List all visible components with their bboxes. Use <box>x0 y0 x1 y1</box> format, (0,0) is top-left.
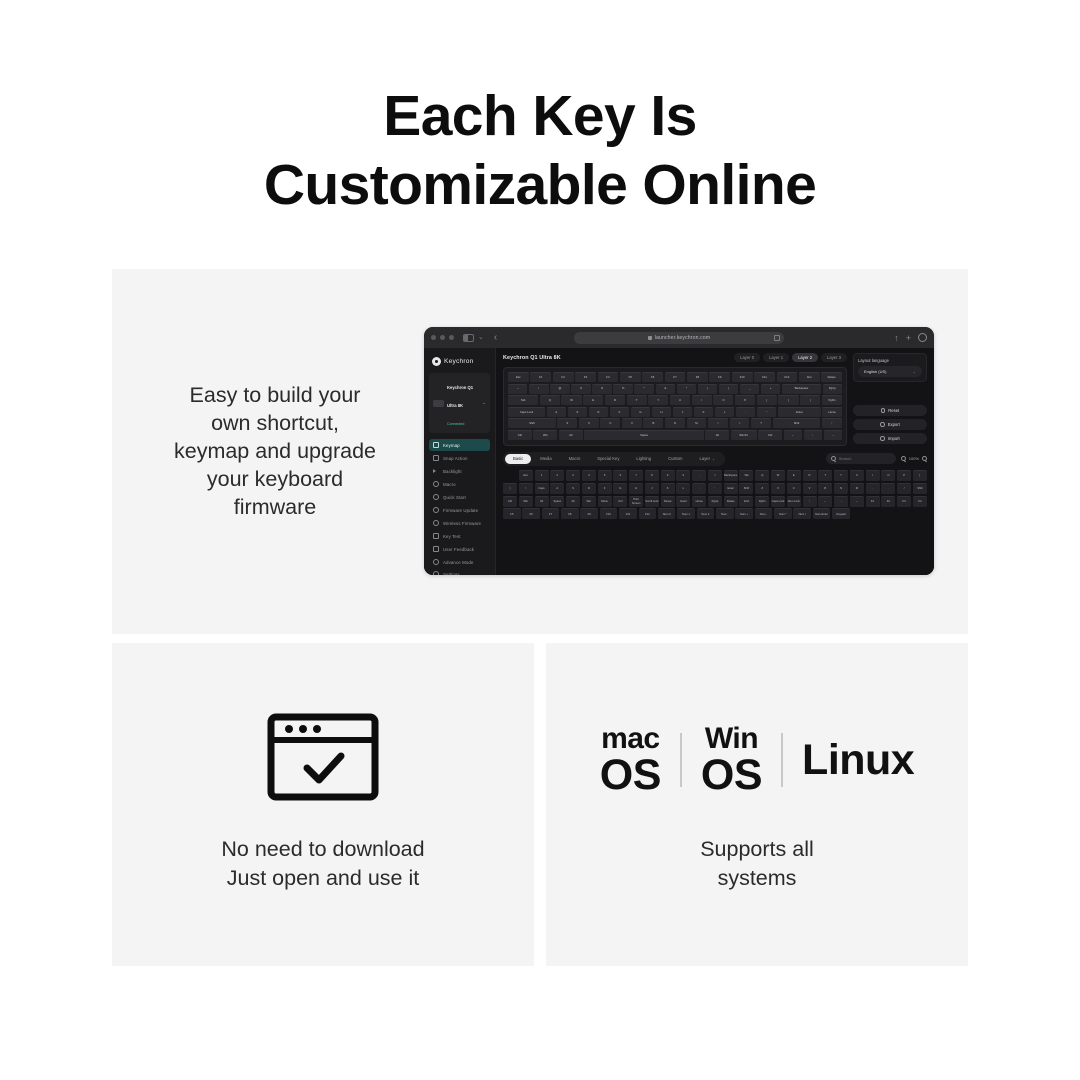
key-palette-key[interactable]: ↓ <box>834 496 848 507</box>
keymap-caption-line-4: your keyboard <box>140 465 410 493</box>
keyboard-key[interactable]: F2 <box>553 372 574 382</box>
sidebar-item-backlight[interactable]: Backlight <box>429 465 490 477</box>
keyboard-key[interactable]: F6 <box>642 372 663 382</box>
key-palette-key[interactable]: I <box>866 470 880 481</box>
app-sidebar: Keychron Keychron Q1 Ultra 8K Connected … <box>424 348 496 575</box>
keyboard-key[interactable]: C <box>600 418 620 428</box>
tab-layer-label: Layer <box>700 456 710 461</box>
keyboard-key[interactable]: ↓ <box>804 430 822 440</box>
key-palette-key[interactable]: Shift <box>739 483 753 494</box>
key-palette-key[interactable]: ' <box>708 483 722 494</box>
key-palette-key[interactable]: 7 <box>629 470 643 481</box>
key-palette-key[interactable]: Shift <box>913 483 927 494</box>
sidebar-item-settings[interactable]: Settings <box>429 568 490 575</box>
key-palette-key[interactable]: / <box>897 483 911 494</box>
keyboard-key[interactable]: + <box>761 384 780 394</box>
keyboard-key[interactable]: Del <box>799 372 820 382</box>
key-palette-key[interactable]: PgUp <box>708 496 722 507</box>
key-palette-key[interactable]: ← <box>818 496 832 507</box>
keyboard-key[interactable]: & <box>656 384 675 394</box>
key-palette-key[interactable]: Scroll Lock <box>645 496 659 507</box>
zoom-controls: 100% <box>901 456 927 461</box>
close-dot-icon[interactable] <box>431 335 436 340</box>
reload-icon[interactable] <box>774 335 780 341</box>
reset-button-label: Reset <box>888 408 899 413</box>
page-title-line-1: Each Key Is <box>383 84 696 148</box>
keyboard-key[interactable]: % <box>613 384 632 394</box>
keyboard-key[interactable]: B <box>643 418 663 428</box>
keyboard-key[interactable]: F11 <box>754 372 775 382</box>
key-palette-key[interactable]: R <box>803 470 817 481</box>
key-palette-key[interactable]: Keypad <box>832 508 850 519</box>
key-palette-key[interactable]: W <box>771 470 785 481</box>
keyboard-key[interactable]: F3 <box>575 372 596 382</box>
sidebar-nav: Keymap Snap Action Backlight Macro <box>429 439 490 568</box>
keyboard-key[interactable]: : <box>736 407 755 417</box>
key-palette-spacer <box>871 508 889 519</box>
key-palette-key[interactable]: Caps <box>535 483 549 494</box>
os-support-caption-line-1: Supports all <box>546 835 968 864</box>
feature-card-os-support <box>546 643 968 966</box>
device-selector[interactable]: Keychron Q1 Ultra 8K Connected ⌄ <box>429 373 490 433</box>
key-palette-key[interactable]: 9 <box>661 470 675 481</box>
key-palette-row: CtrlWinAltSpaceAltWinMenuCtrlPrint Scree… <box>503 496 927 507</box>
keyboard-key[interactable]: Enter <box>778 407 821 417</box>
key-palette-key[interactable]: Alt <box>566 496 580 507</box>
address-bar[interactable]: launcher.keychron.com <box>574 332 784 344</box>
keyboard-key[interactable]: | <box>800 395 820 405</box>
tab-special-key[interactable]: Special Key <box>589 454 627 464</box>
key-palette-key[interactable]: N <box>834 483 848 494</box>
keyboard-key[interactable]: A <box>547 407 566 417</box>
keyboard-key[interactable]: ) <box>719 384 738 394</box>
brand-name: Keychron <box>444 358 473 365</box>
key-palette-key[interactable]: O <box>881 470 895 481</box>
key-palette-key[interactable]: Home <box>692 496 706 507</box>
key-palette-key[interactable]: ; <box>692 483 706 494</box>
layout-language-panel: Layout language English (US) ⌄ <box>853 353 927 382</box>
keyboard-key[interactable]: Y <box>648 395 668 405</box>
keyboard-row: ~!@#$%^&*()_+BackspacePgUp <box>508 384 842 394</box>
key-palette-key[interactable]: F7 <box>542 508 560 519</box>
keyboard-key[interactable]: F10 <box>732 372 753 382</box>
keyboard-row: ShiftZXCVBNM<>?Shift↑ <box>508 418 842 428</box>
key-palette-key[interactable]: F9 <box>580 508 598 519</box>
keyboard-key[interactable]: @ <box>550 384 569 394</box>
key-palette-key[interactable]: . <box>881 483 895 494</box>
os-support-caption: Supports all systems <box>546 835 968 893</box>
keyboard-key[interactable]: Q <box>540 395 560 405</box>
zoom-out-icon[interactable] <box>901 456 906 461</box>
keyboard-key[interactable]: * <box>677 384 696 394</box>
keyboard-key[interactable]: # <box>571 384 590 394</box>
key-palette-key[interactable]: Enter <box>724 483 738 494</box>
keymap-side-panel: Layout language English (US) ⌄ Reset <box>853 353 927 446</box>
layer-tab-2[interactable]: Layer 2 <box>792 353 818 362</box>
key-palette-key[interactable]: 2 <box>550 470 564 481</box>
key-palette-key[interactable]: Num * <box>774 508 792 519</box>
keyboard-key[interactable]: Home <box>822 407 841 417</box>
keymap-actions: Reset Export Import <box>853 405 927 446</box>
chevron-down-icon[interactable]: ⌄ <box>482 401 486 406</box>
chevron-down-icon: ⌄ <box>913 369 916 374</box>
keyboard-key[interactable]: _ <box>740 384 759 394</box>
reset-button[interactable]: Reset <box>853 405 927 416</box>
keyboard-key[interactable]: S <box>568 407 587 417</box>
key-palette-row: Esc1234567890-=BackspaceTabQWERTYUIOP[ <box>503 470 927 481</box>
key-palette-key[interactable]: \ <box>519 483 533 494</box>
export-button[interactable]: Export <box>853 419 927 430</box>
snap-action-icon <box>433 455 439 461</box>
keyboard-key[interactable]: E <box>583 395 603 405</box>
os-logo-winos: Win OS <box>701 724 762 796</box>
key-palette-spacer <box>851 508 869 519</box>
tab-layer[interactable]: Layer⌄ <box>692 454 723 464</box>
key-palette-key[interactable]: → <box>850 496 864 507</box>
key-palette-key[interactable]: Esc <box>519 470 533 481</box>
keymap-workspace: Keychron Q1 Ultra 8K Layer 0 Layer 1 Lay… <box>496 348 934 446</box>
keyboard-key[interactable]: W <box>561 395 581 405</box>
keymap-caption: Easy to build your own shortcut, keymap … <box>140 381 410 521</box>
key-palette-key[interactable]: 1 <box>535 470 549 481</box>
key-palette-key[interactable]: Ctrl <box>503 496 517 507</box>
key-palette-key[interactable]: A <box>550 483 564 494</box>
tab-basic[interactable]: Basic <box>505 454 531 464</box>
search-input[interactable]: Search <box>826 453 896 464</box>
no-download-caption-line-2: Just open and use it <box>112 864 534 893</box>
key-palette-key[interactable]: Q <box>755 470 769 481</box>
key-palette-key[interactable]: Num / <box>793 508 811 519</box>
keyboard-key[interactable]: Ctrl <box>758 430 782 440</box>
keyboard-key[interactable]: Win <box>533 430 557 440</box>
chevron-down-icon[interactable]: ⌄ <box>478 334 484 341</box>
keyboard-key[interactable]: Shift <box>773 418 821 428</box>
keyboard-key[interactable]: Ctrl <box>508 430 532 440</box>
key-palette-key[interactable]: H <box>629 483 643 494</box>
keyboard-key[interactable]: Alt <box>705 430 729 440</box>
keyboard-key[interactable]: ~ <box>508 384 527 394</box>
key-palette-spacer <box>890 508 908 519</box>
key-palette-key[interactable]: Ctrl <box>613 496 627 507</box>
key-palette-key[interactable]: , <box>866 483 880 494</box>
key-palette-key[interactable]: Menu <box>598 496 612 507</box>
key-palette-key[interactable]: F2 <box>881 496 895 507</box>
keyboard-key[interactable]: J <box>673 407 692 417</box>
lock-icon <box>648 336 652 340</box>
tabs-overview-icon[interactable] <box>918 333 927 342</box>
key-palette-key[interactable]: = <box>708 470 722 481</box>
promo-page: Each Key Is Customizable Online Easy to … <box>0 0 1080 1080</box>
sidebar-item-wireless-firmware[interactable]: Wireless Firmware <box>429 517 490 529</box>
new-tab-icon[interactable]: + <box>906 333 911 343</box>
layer-tab-0[interactable]: Layer 0 <box>734 353 760 362</box>
keyboard-key[interactable]: Z <box>557 418 577 428</box>
keyboard-key[interactable]: K <box>694 407 713 417</box>
key-palette-key[interactable]: Y <box>834 470 848 481</box>
keyboard-key[interactable]: { <box>757 395 777 405</box>
key-palette-key[interactable]: Win <box>582 496 596 507</box>
key-palette-key[interactable]: F10 <box>600 508 618 519</box>
key-palette-key[interactable]: U <box>850 470 864 481</box>
import-button-label: Import <box>888 436 900 441</box>
tab-macro[interactable]: Macro <box>561 454 589 464</box>
key-palette-key[interactable]: F12 <box>639 508 657 519</box>
key-palette-key[interactable]: E <box>787 470 801 481</box>
key-palette-key[interactable]: J <box>645 483 659 494</box>
no-download-caption: No need to download Just open and use it <box>112 835 534 893</box>
key-picker-toolbar: Basic Media Macro Special Key Lighting C… <box>503 452 927 466</box>
os-logo-winos-top: Win <box>705 724 758 753</box>
layer-tab-3[interactable]: Layer 3 <box>821 353 847 362</box>
key-palette-key[interactable]: F11 <box>619 508 637 519</box>
keyboard-key[interactable]: F1 <box>530 372 551 382</box>
keyboard-key[interactable]: Caps Lock <box>508 407 545 417</box>
os-logo-winos-bottom: OS <box>701 754 762 796</box>
sidebar-item-quick-start[interactable]: Quick Start <box>429 491 490 503</box>
sidebar-item-firmware-update[interactable]: Firmware Update <box>429 504 490 516</box>
sidebar-item-label: Keymap <box>443 443 460 448</box>
back-arrow-icon[interactable]: ‹ <box>494 333 497 343</box>
key-palette-row: ]\CapsASDFGHJKL;'EnterShiftZXCVBNM,./Shi… <box>503 483 927 494</box>
firmware-update-icon <box>433 507 439 513</box>
keyboard-key[interactable]: F <box>610 407 629 417</box>
zoom-level-value: 100% <box>909 456 919 461</box>
device-status-badge: Connected <box>447 422 464 426</box>
keyboard-key[interactable]: L <box>715 407 734 417</box>
key-palette-key[interactable]: F5 <box>503 508 521 519</box>
key-palette-key[interactable]: X <box>771 483 785 494</box>
keyboard-key[interactable]: PgUp <box>823 384 842 394</box>
keymap-caption-line-2: own shortcut, <box>140 409 410 437</box>
maximize-dot-icon[interactable] <box>449 335 454 340</box>
key-palette-key[interactable]: 0 <box>676 470 690 481</box>
tab-lighting[interactable]: Lighting <box>628 454 659 464</box>
key-palette-key[interactable]: G <box>613 483 627 494</box>
browser-chrome-bar: ⌄ ‹ launcher.keychron.com ↑ + <box>424 327 934 348</box>
keyboard-key[interactable]: ( <box>698 384 717 394</box>
key-palette-key[interactable]: Num . <box>716 508 734 519</box>
keyboard-key[interactable]: ↑ <box>822 418 842 428</box>
keyboard-key[interactable]: F5 <box>620 372 641 382</box>
keyboard-key[interactable]: T <box>627 395 647 405</box>
keyboard-key[interactable]: P <box>735 395 755 405</box>
key-palette-key[interactable]: Num + <box>735 508 753 519</box>
layer-tab-1[interactable]: Layer 1 <box>763 353 789 362</box>
keyboard-key[interactable]: Delete <box>821 372 842 382</box>
keyboard-key[interactable]: I <box>692 395 712 405</box>
key-palette-key[interactable]: F4 <box>913 496 927 507</box>
gear-icon <box>433 571 439 575</box>
layout-language-select[interactable]: English (US) ⌄ <box>858 366 922 377</box>
zoom-in-icon[interactable] <box>922 456 927 461</box>
keyboard-key[interactable]: ^ <box>634 384 653 394</box>
keyboard-key[interactable]: D <box>589 407 608 417</box>
key-palette-key[interactable]: F1 <box>866 496 880 507</box>
device-thumbnail-icon <box>433 400 444 407</box>
os-support-caption-line-2: systems <box>546 864 968 893</box>
keyboard-key[interactable]: Space <box>584 430 703 440</box>
key-palette-key[interactable]: ↑ <box>803 496 817 507</box>
key-picker-tools: Search 100% <box>826 453 927 464</box>
key-palette-key[interactable]: Insert <box>676 496 690 507</box>
search-icon <box>831 456 836 461</box>
key-palette-key[interactable]: 4 <box>582 470 596 481</box>
sidebar-item-label: Advance Mode <box>443 560 474 565</box>
tab-media[interactable]: Media <box>532 454 559 464</box>
key-palette-key[interactable]: F8 <box>561 508 579 519</box>
key-palette-key[interactable]: M <box>850 483 864 494</box>
key-palette-key[interactable]: Delete <box>724 496 738 507</box>
sidebar-item-label: User Feedback <box>443 547 474 552</box>
import-button[interactable]: Import <box>853 433 927 444</box>
key-palette-key[interactable]: Num 0 <box>658 508 676 519</box>
keyboard-key[interactable]: O <box>713 395 733 405</box>
key-palette-key[interactable]: 3 <box>566 470 580 481</box>
reset-icon <box>881 408 886 413</box>
keyboard-key[interactable]: ? <box>751 418 771 428</box>
layer-tabs: Layer 0 Layer 1 Layer 2 Layer 3 <box>734 353 847 362</box>
key-palette-key[interactable]: T <box>818 470 832 481</box>
sidebar-item-macro[interactable]: Macro <box>429 478 490 490</box>
keyboard-key[interactable]: F9 <box>709 372 730 382</box>
chevron-down-icon: ⌄ <box>712 457 715 461</box>
brand: Keychron <box>429 354 490 373</box>
keyboard-key[interactable]: $ <box>592 384 611 394</box>
key-palette-key[interactable]: D <box>582 483 596 494</box>
key-palette-key[interactable]: Num Lock <box>787 496 801 507</box>
sidebar-item-label: Wireless Firmware <box>443 521 481 526</box>
keyboard-title: Keychron Q1 Ultra 8K <box>503 355 561 361</box>
keyboard-key[interactable]: F7 <box>665 372 686 382</box>
key-palette-key[interactable]: 6 <box>613 470 627 481</box>
key-palette-key[interactable]: Print Screen <box>629 496 643 507</box>
key-palette-key[interactable]: Num - <box>755 508 773 519</box>
keyboard-key[interactable]: Backspace <box>782 384 821 394</box>
keyboard-key[interactable]: } <box>778 395 798 405</box>
key-palette-key[interactable]: Win <box>519 496 533 507</box>
keyboard-key[interactable]: H <box>652 407 671 417</box>
key-palette-key[interactable]: P <box>897 470 911 481</box>
share-icon[interactable]: ↑ <box>894 333 899 343</box>
os-logo-linux-label: Linux <box>802 739 914 781</box>
keymap-caption-line-3: keymap and upgrade <box>140 437 410 465</box>
sidebar-item-keymap[interactable]: Keymap <box>429 439 490 451</box>
keyboard-key[interactable]: < <box>708 418 728 428</box>
key-palette-key[interactable]: Backspace <box>724 470 738 481</box>
keyboard-key[interactable]: Win/Fn <box>731 430 757 440</box>
key-palette-key[interactable]: F6 <box>522 508 540 519</box>
keyboard-key[interactable]: F12 <box>777 372 798 382</box>
keyboard-key[interactable]: G <box>631 407 650 417</box>
keyboard-key[interactable]: Shift <box>508 418 556 428</box>
keyboard-key[interactable]: U <box>670 395 690 405</box>
os-logo-linux: Linux <box>802 739 914 781</box>
key-palette-key[interactable]: End <box>739 496 753 507</box>
keymap-icon <box>433 442 439 448</box>
minimize-dot-icon[interactable] <box>440 335 445 340</box>
key-palette-key[interactable]: [ <box>913 470 927 481</box>
key-palette-key[interactable]: - <box>692 470 706 481</box>
export-button-label: Export <box>888 422 900 427</box>
key-palette-key[interactable]: S <box>566 483 580 494</box>
keyboard-row: TabQWERTYUIOP{}|PgDn <box>508 395 842 405</box>
key-palette-key[interactable]: L <box>676 483 690 494</box>
key-palette-key[interactable]: Caps Lock <box>771 496 785 507</box>
key-picker: Basic Media Macro Special Key Lighting C… <box>496 452 934 525</box>
sidebar-item-label: Snap Action <box>443 456 468 461</box>
keymap-caption-line-5: firmware <box>140 493 410 521</box>
keyboard-key[interactable]: ! <box>529 384 548 394</box>
keyboard-key[interactable]: Tab <box>508 395 538 405</box>
key-palette-key[interactable]: C <box>787 483 801 494</box>
keyboard-key[interactable]: Esc <box>508 372 529 382</box>
feature-card-no-download <box>112 643 534 966</box>
key-palette-key[interactable]: ] <box>503 483 517 494</box>
key-palette-key[interactable]: Pause <box>661 496 675 507</box>
backlight-icon <box>433 468 439 474</box>
key-palette-key[interactable]: 8 <box>645 470 659 481</box>
key-palette-key[interactable]: F3 <box>897 496 911 507</box>
keyboard-key[interactable]: → <box>824 430 842 440</box>
keyboard-key[interactable]: V <box>622 418 642 428</box>
keyboard-key[interactable]: ← <box>784 430 802 440</box>
key-palette-key[interactable]: K <box>661 483 675 494</box>
sidebar-item-key-test[interactable]: Key Test <box>429 530 490 542</box>
keyboard-key[interactable]: R <box>605 395 625 405</box>
key-palette-key[interactable]: F <box>598 483 612 494</box>
keyboard-key[interactable]: > <box>730 418 750 428</box>
keyboard-key[interactable]: N <box>665 418 685 428</box>
sidebar-item-user-feedback[interactable]: User Feedback <box>429 543 490 555</box>
page-title: Each Key Is Customizable Online <box>0 82 1080 220</box>
key-palette-key[interactable]: PgDn <box>755 496 769 507</box>
key-palette-key[interactable]: Z <box>755 483 769 494</box>
browser-check-icon <box>267 713 379 801</box>
keyboard-key[interactable]: PgDn <box>822 395 842 405</box>
tab-custom[interactable]: Custom <box>660 454 690 464</box>
key-palette-key[interactable]: Num 2 <box>697 508 715 519</box>
keyboard-key[interactable]: F4 <box>598 372 619 382</box>
sidebar-item-advance-mode[interactable]: Advance Mode <box>429 556 490 568</box>
quick-start-icon <box>433 494 439 500</box>
keyboard-key[interactable]: " <box>757 407 776 417</box>
key-palette-key[interactable]: B <box>818 483 832 494</box>
browser-window-mockup: ⌄ ‹ launcher.keychron.com ↑ + Keychron <box>424 327 934 575</box>
sidebar-toggle-icon[interactable] <box>463 334 474 342</box>
key-palette-key[interactable]: Num 1 <box>677 508 695 519</box>
keyboard-key[interactable]: X <box>579 418 599 428</box>
key-palette-key[interactable]: Num Enter <box>813 508 831 519</box>
sidebar-item-label: Key Test <box>443 534 461 539</box>
os-divider <box>680 733 682 787</box>
export-icon <box>880 422 885 427</box>
keyboard-key[interactable]: M <box>687 418 707 428</box>
key-palette-key[interactable]: 5 <box>598 470 612 481</box>
keyboard-key[interactable]: F8 <box>687 372 708 382</box>
launcher-app: Keychron Keychron Q1 Ultra 8K Connected … <box>424 348 934 575</box>
sidebar-item-snap-action[interactable]: Snap Action <box>429 452 490 464</box>
keyboard-key[interactable]: Alt <box>559 430 583 440</box>
page-title-line-2: Customizable Online <box>0 151 1080 220</box>
window-traffic-lights[interactable] <box>431 335 454 340</box>
key-palette-key[interactable]: Space <box>550 496 564 507</box>
address-bar-url: launcher.keychron.com <box>655 335 710 341</box>
key-palette-key[interactable]: V <box>803 483 817 494</box>
keyboard-row: CtrlWinAltSpaceAltWin/FnCtrl←↓→ <box>508 430 842 440</box>
keyboard-row: EscF1F2F3F4F5F6F7F8F9F10F11F12DelDelete <box>508 372 842 382</box>
key-palette-key[interactable]: Alt <box>535 496 549 507</box>
key-palette-key[interactable]: Tab <box>739 470 753 481</box>
